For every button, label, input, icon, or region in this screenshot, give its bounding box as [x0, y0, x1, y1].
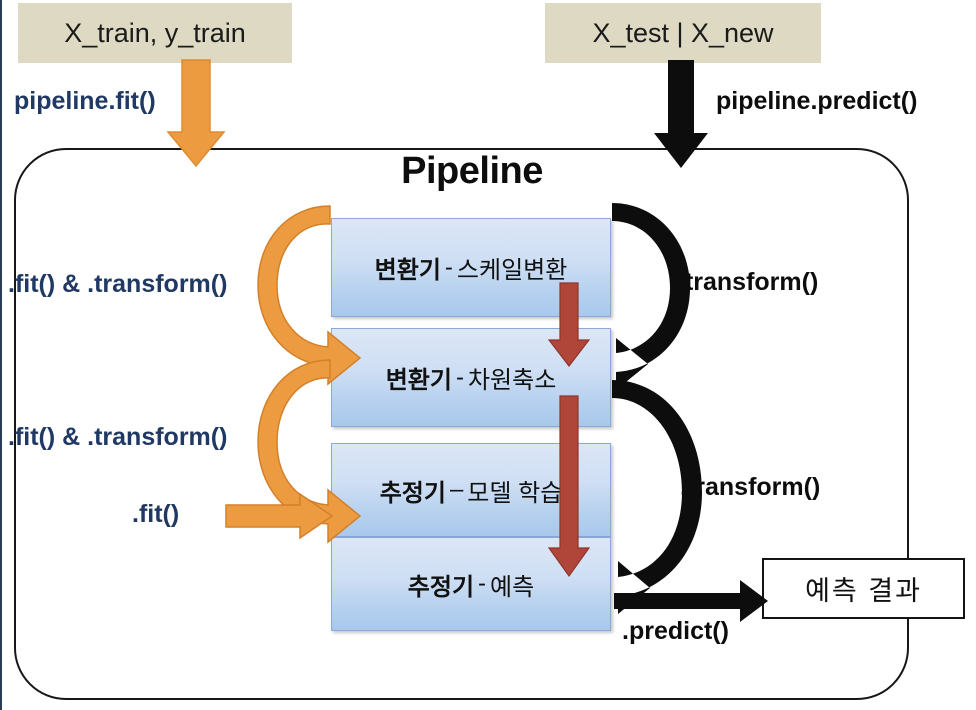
stage-box-transformer-scaling: 변환기 - 스케일변환	[331, 218, 611, 317]
diagram-canvas: X_train, y_train X_test | X_new Pipeline…	[0, 0, 976, 710]
input-box-train-label: X_train, y_train	[64, 18, 246, 49]
stage-box-1-separator: -	[441, 254, 457, 282]
stage-box-2-separator: -	[452, 364, 468, 392]
input-box-train: X_train, y_train	[18, 3, 292, 63]
stage-box-2-name: 차원축소	[468, 360, 556, 395]
stage-box-3-role: 추정기	[380, 473, 446, 508]
stage-box-1-role: 변환기	[375, 250, 441, 285]
label-transform-1: .transform()	[678, 268, 818, 297]
stage-box-2-role: 변환기	[386, 360, 452, 395]
slide-left-edge	[0, 0, 3, 710]
result-box-label: 예측 결과	[805, 569, 922, 608]
stage-box-estimator-training: 추정기 – 모델 학습	[331, 443, 611, 537]
page-title: Pipeline	[0, 150, 944, 193]
stage-box-1-name: 스케일변환	[457, 250, 567, 285]
label-fit-transform-1: .fit() & .transform()	[8, 270, 227, 299]
stage-box-4-name: 예측	[490, 567, 534, 602]
label-fit: .fit()	[132, 500, 179, 529]
stage-box-4-separator: -	[474, 570, 490, 598]
stage-box-3-separator: –	[446, 476, 467, 504]
stage-box-estimator-predict: 추정기 - 예측	[331, 537, 611, 631]
input-box-test: X_test | X_new	[545, 3, 821, 63]
label-pipeline-predict: pipeline.predict()	[716, 87, 917, 116]
input-box-test-label: X_test | X_new	[592, 18, 773, 49]
label-pipeline-fit: pipeline.fit()	[14, 87, 156, 116]
label-predict: .predict()	[622, 617, 729, 646]
label-fit-transform-2: .fit() & .transform()	[8, 423, 227, 452]
stage-box-transformer-dimreduction: 변환기 - 차원축소	[331, 328, 611, 427]
stage-box-3-name: 모델 학습	[467, 473, 562, 508]
stage-box-4-role: 추정기	[408, 567, 474, 602]
label-transform-2: .transform()	[680, 473, 820, 502]
result-box: 예측 결과	[762, 558, 965, 619]
